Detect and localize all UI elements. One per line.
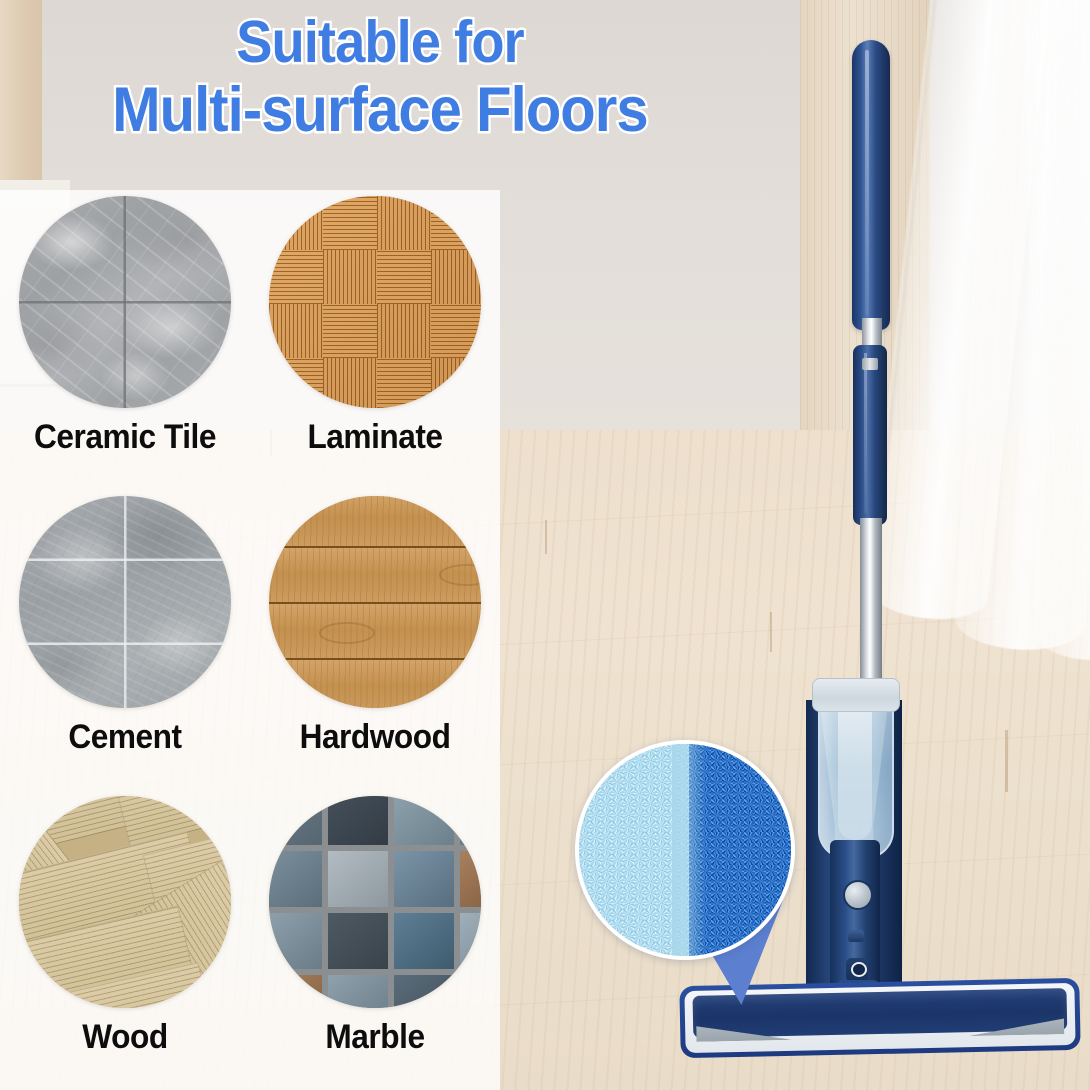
surface-label-cement: Cement — [9, 718, 242, 757]
mosaic-tile — [391, 796, 457, 848]
surface-swatch-panel: Ceramic Tile Laminate Cement — [0, 190, 500, 1090]
mop-mid-grip — [853, 345, 887, 525]
mosaic-tile — [269, 910, 325, 972]
mosaic-tile — [391, 972, 457, 1008]
microfiber-texture — [579, 744, 791, 956]
curtain-panel — [1024, 0, 1090, 661]
mosaic-tile — [391, 848, 457, 910]
mosaic-tile — [325, 796, 391, 848]
mosaic-tile — [269, 972, 325, 1008]
plank — [459, 604, 481, 660]
mop-tank-fluid — [838, 700, 872, 840]
surface-cell-laminate: Laminate — [250, 190, 500, 490]
surface-grid: Ceramic Tile Laminate Cement — [0, 190, 500, 1090]
spray-nozzle — [848, 930, 864, 942]
ceramic-tile-swatch — [19, 196, 231, 408]
wood-knot — [439, 564, 481, 586]
plank — [269, 548, 429, 604]
surface-label-ceramic-tile: Ceramic Tile — [9, 418, 242, 457]
mosaic-tile — [325, 848, 391, 910]
mop-grip — [852, 40, 890, 330]
mosaic-tile — [325, 972, 391, 1008]
floor-seam — [1005, 730, 1008, 792]
mop-telescoping-lock — [862, 358, 878, 370]
hardwood-swatch — [269, 496, 481, 708]
microfiber-blend — [672, 744, 706, 956]
floor-seam — [770, 612, 772, 652]
product-feature-image: Suitable for Multi-surface Floors Cerami… — [0, 0, 1090, 1090]
spray-trigger-button[interactable] — [843, 880, 873, 910]
surface-cell-cement: Cement — [0, 490, 250, 790]
cement-swatch — [19, 496, 231, 708]
surface-cell-ceramic-tile: Ceramic Tile — [0, 190, 250, 490]
marble-swatch — [269, 796, 481, 1008]
mosaic-tile — [391, 910, 457, 972]
mop-lower-pole — [860, 518, 882, 698]
laminate-swatch — [269, 196, 481, 408]
surface-label-wood: Wood — [9, 1018, 242, 1057]
headline-line-2: Multi-surface Floors — [30, 80, 729, 142]
plank — [389, 496, 481, 548]
wood-swatch — [19, 796, 231, 1008]
surface-cell-wood: Wood — [0, 790, 250, 1090]
plank — [269, 604, 459, 660]
headline: Suitable for Multi-surface Floors — [0, 14, 760, 142]
plank — [429, 548, 481, 604]
mosaic-tile — [457, 796, 481, 848]
wood-knot — [319, 622, 375, 644]
callout-circle — [575, 740, 795, 960]
surface-label-hardwood: Hardwood — [259, 718, 492, 757]
mosaic-tile — [269, 796, 325, 848]
surface-label-marble: Marble — [259, 1018, 492, 1057]
swivel-joint-eye — [851, 962, 867, 977]
headline-line-1: Suitable for — [30, 14, 729, 72]
mosaic-tile — [457, 972, 481, 1008]
mop-tank-cap — [812, 678, 900, 712]
mosaic-tile — [325, 910, 391, 972]
mosaic-tile — [457, 848, 481, 910]
surface-label-laminate: Laminate — [259, 418, 492, 457]
window-curtain — [880, 0, 1090, 620]
plank — [269, 660, 349, 708]
plank — [349, 660, 481, 708]
surface-cell-hardwood: Hardwood — [250, 490, 500, 790]
mosaic-tile — [269, 848, 325, 910]
surface-cell-marble: Marble — [250, 790, 500, 1090]
mosaic-tile — [457, 910, 481, 972]
plank — [269, 496, 389, 548]
floor-seam — [545, 520, 547, 554]
